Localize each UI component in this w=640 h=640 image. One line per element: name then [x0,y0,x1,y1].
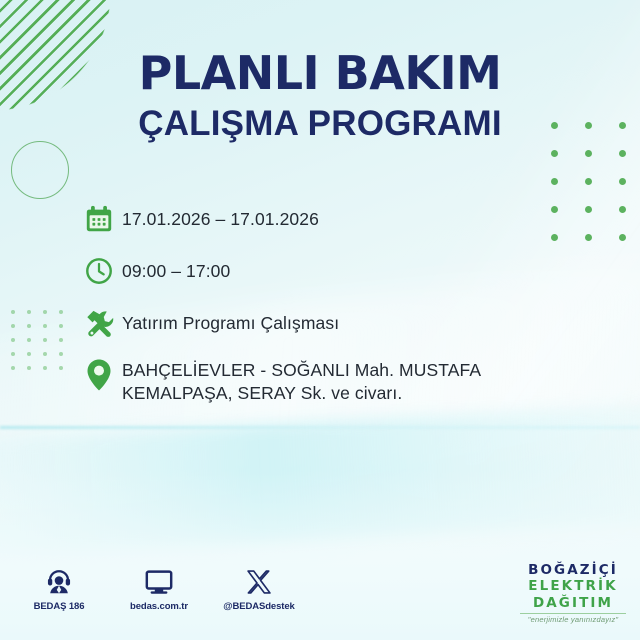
page-title: PLANLI BAKIM [0,50,640,96]
detail-date-range: 17.01.2026 – 17.01.2026 [122,200,554,231]
location-pin-icon [84,356,122,396]
contact-website[interactable]: bedas.com.tr [122,562,196,612]
bg-horizontal-line [0,426,640,429]
tools-icon [84,304,122,342]
detail-address: BAHÇELİEVLER - SOĞANLI Mah. MUSTAFA KEMA… [122,356,554,405]
logo-line-1: BOĞAZİÇİ [514,562,632,578]
contact-x-label: @BEDASdestek [222,601,296,612]
clock-icon [84,252,122,290]
address-line-2: KEMALPAŞA, SERAY Sk. ve civarı. [122,383,402,403]
headset-support-icon [22,562,96,596]
monitor-icon [122,562,196,596]
logo-line-3: DAĞITIM [514,595,632,611]
detail-row-time: 09:00 – 17:00 [84,252,554,290]
detail-row-address: BAHÇELİEVLER - SOĞANLI Mah. MUSTAFA KEMA… [84,356,554,405]
logo-divider [520,613,626,614]
poster-header: PLANLI BAKIM ÇALIŞMA PROGRAMI [0,50,640,145]
detail-row-date: 17.01.2026 – 17.01.2026 [84,200,554,238]
contact-phone[interactable]: BEDAŞ 186 [22,562,96,612]
poster-footer: BEDAŞ 186 bedas.com.tr [0,548,640,640]
x-twitter-icon [222,562,296,596]
circle-outline-decoration [11,141,69,199]
company-logo: BOĞAZİÇİ ELEKTRİK DAĞITIM "enerjimizle y… [514,562,632,624]
bg-light-band-lower [0,398,640,563]
address-line-1: BAHÇELİEVLER - SOĞANLI Mah. MUSTAFA [122,360,481,380]
contact-x-twitter[interactable]: @BEDASdestek [222,562,296,612]
contact-website-label: bedas.com.tr [122,601,196,612]
maintenance-details: 17.01.2026 – 17.01.2026 09:00 – 17:00 [84,200,554,419]
detail-row-work-type: Yatırım Programı Çalışması [84,304,554,342]
logo-tagline: "enerjimizle yanınızdayız" [514,615,632,624]
dot-grid-left-decoration [11,310,75,380]
logo-line-2: ELEKTRİK [514,578,632,594]
page-subtitle: ÇALIŞMA PROGRAMI [0,103,640,145]
detail-work-type: Yatırım Programı Çalışması [122,304,554,335]
contact-channels: BEDAŞ 186 bedas.com.tr [22,562,296,612]
contact-phone-label: BEDAŞ 186 [22,601,96,612]
detail-time-range: 09:00 – 17:00 [122,252,554,283]
planned-maintenance-poster: PLANLI BAKIM ÇALIŞMA PROGRAMI [0,0,640,640]
calendar-icon [84,200,122,238]
